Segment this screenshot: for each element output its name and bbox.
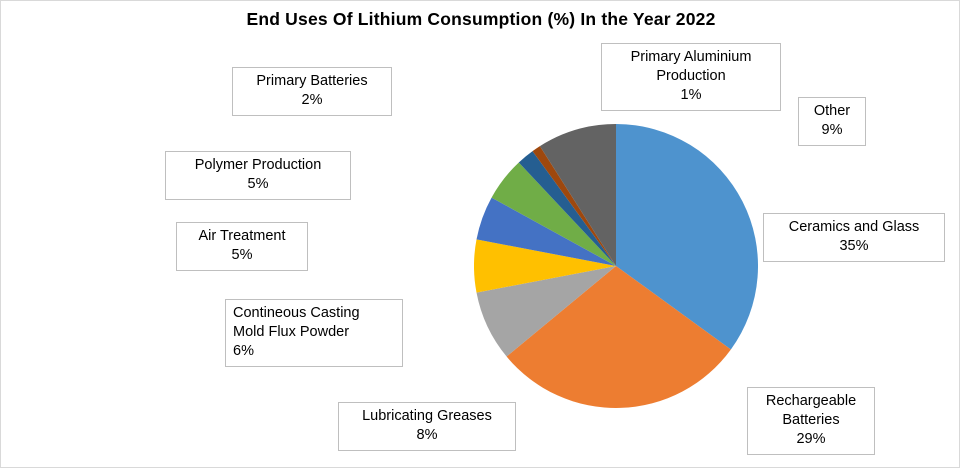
data-label-rechargeable-batteries[interactable]: RechargeableBatteries29%: [747, 387, 875, 455]
data-label-value: 2%: [240, 91, 384, 110]
data-label-contineous-casting-mold-flux-powder[interactable]: Contineous CastingMold Flux Powder6%: [225, 299, 403, 367]
data-label-lubricating-greases[interactable]: Lubricating Greases8%: [338, 402, 516, 451]
data-label-value: 29%: [755, 430, 867, 449]
data-label-other[interactable]: Other9%: [798, 97, 866, 146]
pie-slices-svg: [474, 124, 758, 408]
data-label-value: 35%: [771, 237, 937, 256]
data-label-name: Other: [806, 102, 858, 121]
data-label-name: Ceramics and Glass: [771, 218, 937, 237]
data-label-value: 6%: [233, 342, 395, 361]
data-label-value: 8%: [346, 426, 508, 445]
data-label-value: 5%: [184, 246, 300, 265]
pie-chart-figure: End Uses Of Lithium Consumption (%) In t…: [0, 0, 960, 468]
data-label-name-line2: Mold Flux Powder: [233, 323, 395, 342]
data-label-value: 9%: [806, 121, 858, 140]
pie-graphic: [474, 124, 758, 408]
data-label-name: Rechargeable: [755, 392, 867, 411]
data-label-value: 5%: [173, 175, 343, 194]
data-label-name-line2: Production: [609, 67, 773, 86]
data-label-name: Primary Batteries: [240, 72, 384, 91]
data-label-ceramics-and-glass[interactable]: Ceramics and Glass35%: [763, 213, 945, 262]
data-label-polymer-production[interactable]: Polymer Production5%: [165, 151, 351, 200]
data-label-name: Lubricating Greases: [346, 407, 508, 426]
data-label-air-treatment[interactable]: Air Treatment5%: [176, 222, 308, 271]
data-label-name: Polymer Production: [173, 156, 343, 175]
data-label-primary-batteries[interactable]: Primary Batteries2%: [232, 67, 392, 116]
data-label-name: Air Treatment: [184, 227, 300, 246]
data-label-name-line2: Batteries: [755, 411, 867, 430]
data-label-name: Contineous Casting: [233, 304, 395, 323]
data-label-primary-aluminium-production[interactable]: Primary AluminiumProduction1%: [601, 43, 781, 111]
data-label-name: Primary Aluminium: [609, 48, 773, 67]
data-label-value: 1%: [609, 86, 773, 105]
chart-title: End Uses Of Lithium Consumption (%) In t…: [1, 9, 960, 30]
